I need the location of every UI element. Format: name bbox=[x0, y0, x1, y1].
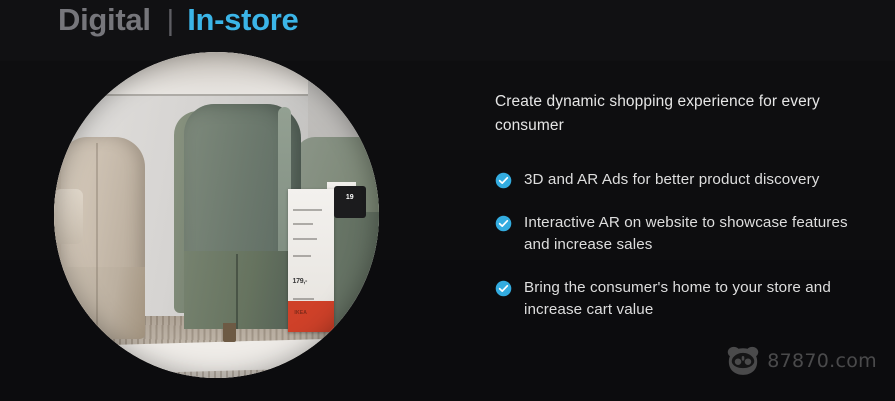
title-divider: | bbox=[151, 5, 188, 38]
price-tag-amount: 179,- bbox=[293, 278, 307, 285]
panda-robot-logo-icon bbox=[726, 344, 760, 378]
list-item: Interactive AR on website to showcase fe… bbox=[495, 212, 877, 257]
price-tag-rule bbox=[293, 255, 310, 257]
slide-title: Digital | In-store bbox=[58, 2, 298, 38]
green-chair-leg bbox=[223, 323, 236, 343]
price-tag: 179,- IKEA bbox=[288, 189, 334, 332]
price-tag-brand: IKEA bbox=[294, 310, 307, 316]
showroom-photo: 179,- IKEA 19 bbox=[54, 52, 379, 378]
electronic-shelf-label: 19 bbox=[334, 186, 367, 219]
list-item-label: Bring the consumer's home to your store … bbox=[524, 277, 877, 322]
green-chair-skirt-split bbox=[236, 254, 238, 329]
lede-paragraph: Create dynamic shopping experience for e… bbox=[495, 90, 877, 137]
price-tag-rule bbox=[293, 238, 317, 240]
beige-chair-armrest bbox=[54, 189, 83, 244]
benefits-list: 3D and AR Ads for better product discove… bbox=[495, 169, 877, 322]
check-circle-icon bbox=[495, 172, 512, 189]
beige-chair-fold bbox=[96, 143, 98, 332]
price-tag-rule bbox=[293, 298, 314, 300]
title-primary: Digital bbox=[58, 2, 151, 38]
beige-chair-skirt bbox=[61, 267, 146, 339]
list-item: Bring the consumer's home to your store … bbox=[495, 277, 877, 322]
list-item: 3D and AR Ads for better product discove… bbox=[495, 169, 877, 192]
content-column: Create dynamic shopping experience for e… bbox=[495, 90, 877, 322]
electronic-shelf-label-value: 19 bbox=[334, 194, 367, 201]
photo-scene: 179,- IKEA 19 bbox=[54, 52, 379, 378]
price-tag-rule bbox=[293, 209, 321, 211]
list-item-label: 3D and AR Ads for better product discove… bbox=[524, 169, 819, 192]
slide-root: Digital | In-store bbox=[0, 0, 895, 401]
check-circle-icon bbox=[495, 280, 512, 297]
list-item-label: Interactive AR on website to showcase fe… bbox=[524, 212, 877, 257]
check-circle-icon bbox=[495, 215, 512, 232]
price-tag-red-block: IKEA bbox=[288, 301, 334, 333]
watermark-text: 87870.com bbox=[767, 350, 877, 372]
green-chair-skirt bbox=[184, 251, 301, 329]
watermark: 87870.com bbox=[726, 344, 877, 378]
title-accent: In-store bbox=[187, 2, 298, 38]
price-tag-rule bbox=[293, 223, 313, 225]
